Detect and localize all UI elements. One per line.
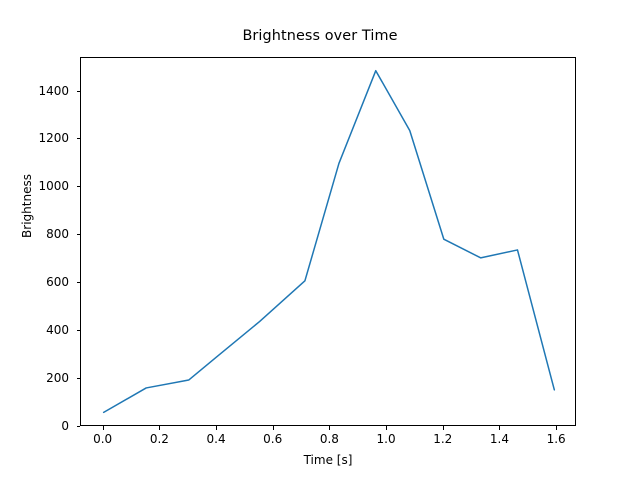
y-tick-mark [77,426,81,427]
x-tick-label: 1.4 [490,432,509,446]
plot-area [81,58,577,427]
chart-title: Brightness over Time [0,28,640,44]
y-tick-mark [77,378,81,379]
y-tick-mark [77,330,81,331]
y-tick-label: 200 [46,371,69,385]
x-tick-label: 1.6 [547,432,566,446]
x-tick-mark [386,426,387,430]
x-tick-label: 0.4 [207,432,226,446]
y-tick-label: 1400 [38,84,69,98]
y-tick-mark [77,138,81,139]
x-tick-mark [159,426,160,430]
x-tick-label: 0.0 [93,432,112,446]
x-axis-label: Time [s] [80,453,576,467]
y-tick-label: 600 [46,275,69,289]
matplotlib-figure: Brightness over Time 0.00.20.40.60.81.01… [0,0,640,480]
x-tick-mark [443,426,444,430]
x-tick-label: 0.8 [320,432,339,446]
y-tick-label: 0 [61,419,69,433]
y-tick-label: 800 [46,227,69,241]
y-tick-mark [77,186,81,187]
x-tick-label: 1.2 [433,432,452,446]
y-tick-label: 1200 [38,131,69,145]
x-tick-label: 1.0 [377,432,396,446]
plot-axes-frame [80,57,576,426]
y-tick-label: 1000 [38,179,69,193]
y-tick-mark [77,234,81,235]
x-tick-mark [273,426,274,430]
y-tick-mark [77,91,81,92]
y-tick-label: 400 [46,323,69,337]
x-tick-label: 0.6 [263,432,282,446]
x-tick-mark [329,426,330,430]
y-tick-mark [77,282,81,283]
x-tick-mark [216,426,217,430]
x-tick-mark [103,426,104,430]
x-tick-label: 0.2 [150,432,169,446]
brightness-line-series [104,71,555,413]
x-tick-mark [499,426,500,430]
y-axis-label: Brightness [20,116,34,296]
x-tick-mark [556,426,557,430]
